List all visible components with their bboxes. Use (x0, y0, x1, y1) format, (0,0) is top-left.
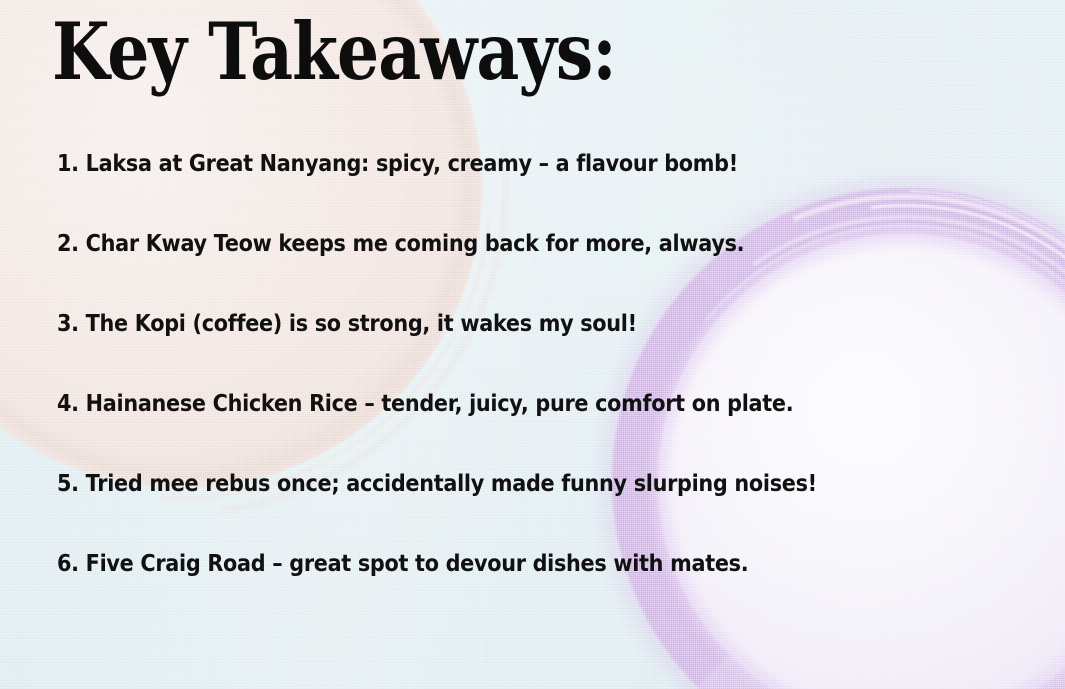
list-item: 6. Five Craig Road – great spot to devou… (57, 552, 914, 632)
takeaways-list: 1. Laksa at Great Nanyang: spicy, creamy… (57, 152, 1025, 632)
page-title: Key Takeaways: (52, 12, 616, 91)
list-item: 3. The Kopi (coffee) is so strong, it wa… (57, 312, 914, 392)
takeaways-poster: Key Takeaways: 1. Laksa at Great Nanyang… (0, 0, 1065, 689)
poster-content: Key Takeaways: 1. Laksa at Great Nanyang… (0, 0, 1065, 689)
list-item: 1. Laksa at Great Nanyang: spicy, creamy… (57, 152, 914, 232)
list-item: 4. Hainanese Chicken Rice – tender, juic… (57, 392, 914, 472)
list-item: 2. Char Kway Teow keeps me coming back f… (57, 232, 914, 312)
list-item: 5. Tried mee rebus once; accidentally ma… (57, 472, 914, 552)
